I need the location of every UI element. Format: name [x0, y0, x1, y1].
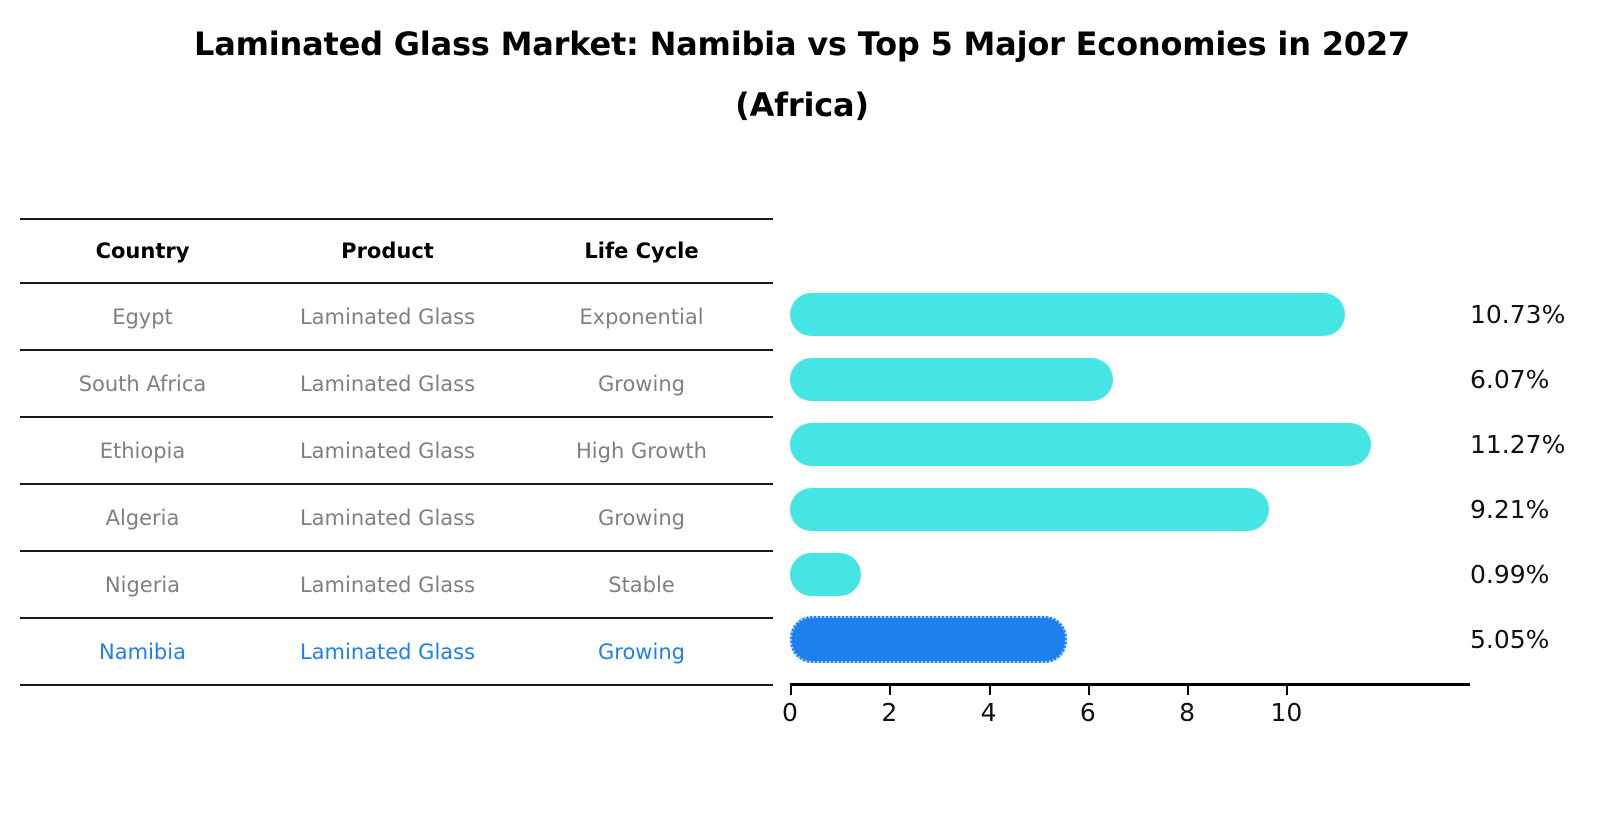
table-head: Country Product Life Cycle — [20, 219, 773, 283]
x-axis-tick — [1088, 686, 1090, 695]
table-cell-life-cycle: High Growth — [510, 417, 773, 484]
column-header-product: Product — [265, 219, 510, 283]
table-cell-product: Laminated Glass — [265, 417, 510, 484]
table-cell-product: Laminated Glass — [265, 551, 510, 618]
table-row: NigeriaLaminated GlassStable — [20, 551, 773, 618]
table-cell-product: Laminated Glass — [265, 283, 510, 350]
bar[interactable] — [790, 553, 861, 596]
x-axis-tick — [790, 686, 792, 695]
column-header-country: Country — [20, 219, 265, 283]
table-cell-country: Egypt — [20, 283, 265, 350]
page-title-line-2: (Africa) — [0, 75, 1604, 136]
bar-value-label: 6.07% — [1470, 358, 1549, 401]
bar[interactable] — [790, 293, 1345, 336]
column-header-life-cycle: Life Cycle — [510, 219, 773, 283]
table-row: South AfricaLaminated GlassGrowing — [20, 350, 773, 417]
bar-value-label: 9.21% — [1470, 488, 1549, 531]
plot-area: 10.73%6.07%11.27%9.21%0.99%5.05% — [790, 218, 1470, 683]
x-axis-line — [790, 683, 1470, 686]
table-cell-life-cycle: Growing — [510, 350, 773, 417]
x-axis-tick — [889, 686, 891, 695]
table-cell-country: South Africa — [20, 350, 265, 417]
bar[interactable] — [790, 358, 1113, 401]
bar-value-label: 0.99% — [1470, 553, 1549, 596]
table-cell-life-cycle: Stable — [510, 551, 773, 618]
x-axis: 0246810 — [790, 683, 1470, 743]
x-axis-tick — [1286, 686, 1288, 695]
page-title-line-1: Laminated Glass Market: Namibia vs Top 5… — [0, 14, 1604, 75]
bar-row: 11.27% — [790, 412, 1470, 477]
table-cell-life-cycle: Growing — [510, 484, 773, 551]
x-axis-tick — [1187, 686, 1189, 695]
table-header-row: Country Product Life Cycle — [20, 219, 773, 283]
bar-chart-panel: 10.73%6.07%11.27%9.21%0.99%5.05% 0246810 — [790, 218, 1470, 688]
bar-row: 9.21% — [790, 477, 1470, 542]
bar-value-label: 10.73% — [1470, 293, 1565, 336]
x-axis-tick-label: 10 — [1270, 698, 1302, 727]
page-title: Laminated Glass Market: Namibia vs Top 5… — [0, 14, 1604, 136]
bar-row: 10.73% — [790, 282, 1470, 347]
table-cell-product: Laminated Glass — [265, 618, 510, 685]
x-axis-tick-label: 2 — [881, 698, 897, 727]
table-cell-product: Laminated Glass — [265, 484, 510, 551]
bar[interactable] — [790, 488, 1269, 531]
bar-value-label: 11.27% — [1470, 423, 1565, 466]
bar-highlighted[interactable] — [790, 616, 1067, 663]
table-cell-life-cycle: Growing — [510, 618, 773, 685]
table-cell-country: Ethiopia — [20, 417, 265, 484]
bar-row: 6.07% — [790, 347, 1470, 412]
comparison-table-panel: Country Product Life Cycle EgyptLaminate… — [20, 218, 773, 686]
table-row: AlgeriaLaminated GlassGrowing — [20, 484, 773, 551]
bar-value-label: 5.05% — [1470, 618, 1549, 661]
bar[interactable] — [790, 423, 1371, 466]
bar-row: 5.05% — [790, 607, 1470, 672]
table-cell-country: Algeria — [20, 484, 265, 551]
x-axis-tick-label: 4 — [981, 698, 997, 727]
table-body: EgyptLaminated GlassExponentialSouth Afr… — [20, 283, 773, 685]
table-cell-product: Laminated Glass — [265, 350, 510, 417]
table-cell-country: Namibia — [20, 618, 265, 685]
x-axis-tick-label: 8 — [1179, 698, 1195, 727]
table-cell-country: Nigeria — [20, 551, 265, 618]
x-axis-tick-label: 6 — [1080, 698, 1096, 727]
table-row: EgyptLaminated GlassExponential — [20, 283, 773, 350]
table-row: NamibiaLaminated GlassGrowing — [20, 618, 773, 685]
table-row: EthiopiaLaminated GlassHigh Growth — [20, 417, 773, 484]
x-axis-tick-label: 0 — [782, 698, 798, 727]
comparison-table: Country Product Life Cycle EgyptLaminate… — [20, 218, 773, 686]
bar-row: 0.99% — [790, 542, 1470, 607]
x-axis-tick — [989, 686, 991, 695]
table-cell-life-cycle: Exponential — [510, 283, 773, 350]
